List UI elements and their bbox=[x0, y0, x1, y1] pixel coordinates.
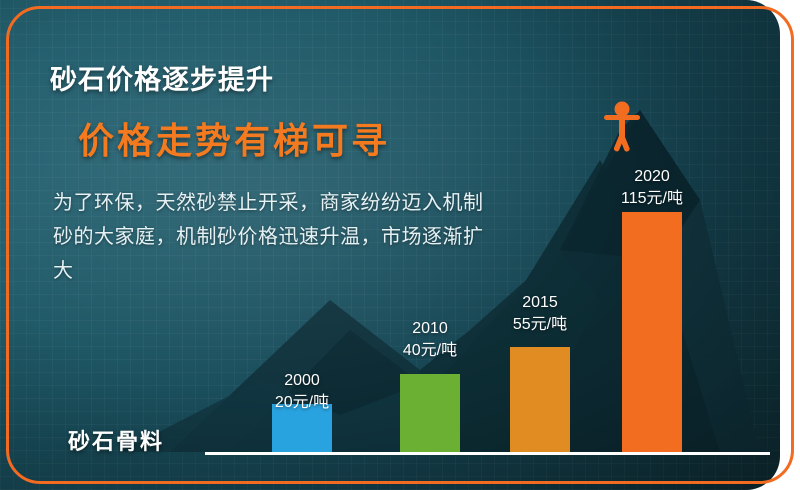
bar-value-2010: 40元/吨 bbox=[380, 340, 480, 362]
bar-year-2010: 2010 bbox=[380, 318, 480, 340]
description-text: 为了环保，天然砂禁止开采，商家纷纷迈入机制砂的大家庭，机制砂价格迅速升温，市场逐… bbox=[53, 186, 503, 288]
bar-label-2020: 2020 115元/吨 bbox=[602, 166, 702, 210]
bar-2020 bbox=[622, 212, 682, 452]
subtitle: 价格走势有梯可寻 bbox=[78, 112, 390, 164]
page-title: 砂石价格逐步提升 bbox=[50, 58, 274, 97]
bar-year-2015: 2015 bbox=[490, 292, 590, 314]
footer-label: 砂石骨料 bbox=[68, 424, 164, 456]
bar-value-2015: 55元/吨 bbox=[490, 314, 590, 336]
x-axis-line bbox=[205, 452, 770, 455]
bar-value-2000: 20元/吨 bbox=[252, 392, 352, 414]
bar-label-2015: 2015 55元/吨 bbox=[490, 292, 590, 336]
bar-label-2010: 2010 40元/吨 bbox=[380, 318, 480, 362]
bar-year-2020: 2020 bbox=[602, 166, 702, 188]
stick-figure-icon bbox=[600, 100, 644, 152]
bar-value-2020: 115元/吨 bbox=[602, 188, 702, 210]
poster-canvas: 砂石价格逐步提升 价格走势有梯可寻 为了环保，天然砂禁止开采，商家纷纷迈入机制砂… bbox=[0, 0, 800, 490]
bar-2015 bbox=[510, 347, 570, 452]
bar-label-2000: 2000 20元/吨 bbox=[252, 370, 352, 414]
bar-2010 bbox=[400, 374, 460, 452]
bar-year-2000: 2000 bbox=[252, 370, 352, 392]
